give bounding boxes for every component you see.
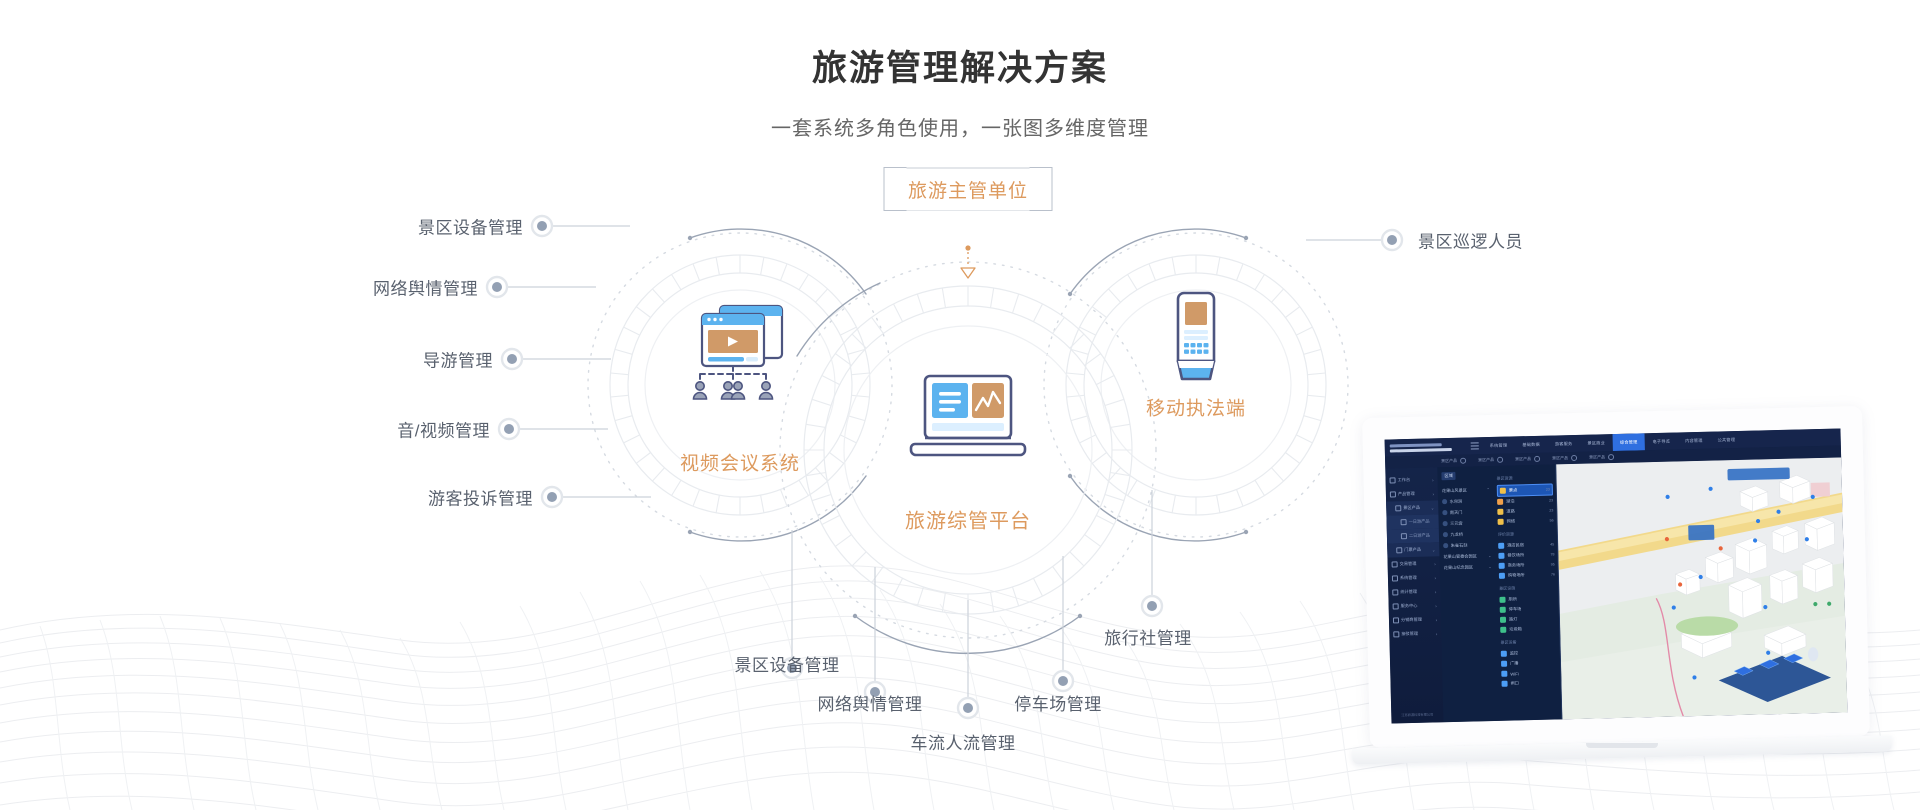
resource-group-title-0: 景区资源 — [1496, 475, 1552, 482]
resource-list-column: 景区资源景点23湖泊23道路23网络56评价资源酒店民宿45餐饮场所78商务场所… — [1493, 464, 1561, 720]
region-tree-label: 三元宫 — [1450, 520, 1463, 526]
resource-item-label: 监控 — [1510, 650, 1519, 656]
resource-type-icon — [1501, 671, 1507, 677]
resource-item-label: 道路 — [1506, 508, 1515, 514]
region-tree-label: 花果山风景区 — [1442, 487, 1467, 494]
video-conference-icon — [676, 300, 804, 410]
node-label-bottom-4: 旅行社管理 — [1104, 624, 1192, 649]
sidebar-item-label: 产品管理 — [1390, 491, 1415, 498]
panel-header-label: 区域 — [1441, 472, 1456, 480]
resource-type-icon — [1498, 553, 1504, 559]
chevron-down-icon[interactable]: ⌄ — [1488, 553, 1491, 558]
laptop-notch — [1586, 743, 1658, 748]
corner-bracket-top-right — [1030, 167, 1053, 190]
resource-item-count: 78 — [1550, 552, 1554, 556]
sidebar-item-label: 统计管理 — [1392, 589, 1417, 596]
laptop-screen: 系统管理基础数据游客服务景区商业综合管理电子导览内容管理公共管理 景区产品景区产… — [1385, 428, 1848, 723]
resource-item-label: 商务场所 — [1508, 562, 1525, 568]
handheld-device-icon — [1160, 291, 1232, 399]
resource-item-1-3[interactable]: 购物场所76 — [1499, 569, 1555, 580]
corner-bracket-top-left — [884, 167, 907, 190]
dashboard-nav-item-6[interactable]: 内容管理 — [1678, 432, 1710, 450]
region-tree-label: 南天门 — [1450, 509, 1463, 515]
sidebar-item-label: 一日游产品 — [1401, 519, 1430, 526]
resource-type-icon — [1500, 607, 1506, 613]
sidebar-item-2[interactable]: 景区产品⌄ — [1386, 500, 1438, 515]
resource-type-icon — [1499, 563, 1505, 569]
sidebar-footer-line1: 江苏旅游科技有限公司 — [1391, 712, 1443, 718]
node-label-left-2: 导游管理 — [423, 347, 493, 372]
resource-item-count: 95 — [1551, 562, 1555, 566]
chevron-right-icon: › — [1435, 575, 1436, 580]
tree-bullet-icon — [1443, 543, 1448, 548]
dashboard-tab-3[interactable]: 景区产品 — [1552, 455, 1577, 462]
region-tree-label: 花果山管委会园区 — [1443, 553, 1477, 560]
sidebar-item-label: 二日游产品 — [1401, 533, 1430, 540]
region-tree-label: 九龙桥 — [1450, 531, 1463, 537]
region-tree-label: 花果山纪念园区 — [1444, 564, 1473, 571]
resource-item-label: 路灯 — [1509, 616, 1518, 622]
dashboard-logo — [1385, 438, 1469, 457]
resource-item-label: 网络 — [1507, 518, 1516, 524]
page-root: 旅游管理解决方案 一套系统多角色使用，一张图多维度管理 — [0, 0, 1920, 810]
resource-type-icon — [1497, 499, 1503, 505]
chevron-right-icon: › — [1432, 491, 1433, 496]
resource-item-label: WiFi — [1510, 671, 1518, 676]
sidebar-footer: 江苏旅游科技有限公司 — [1391, 712, 1443, 718]
corner-bracket-bottom-right — [1030, 188, 1053, 211]
sidebar-item-3[interactable]: 一日游产品 — [1386, 514, 1438, 529]
resource-item-label: 闸口 — [1510, 680, 1519, 686]
sidebar-item-8[interactable]: 统计管理› — [1388, 584, 1440, 599]
laptop-body: 系统管理基础数据游客服务景区商业综合管理电子导览内容管理公共管理 景区产品景区产… — [1362, 406, 1870, 748]
dashboard-nav-item-5[interactable]: 电子导览 — [1645, 432, 1677, 450]
resource-item-label: 广播 — [1510, 660, 1519, 666]
tree-bullet-icon — [1442, 510, 1447, 515]
sidebar-item-label: 系统管理 — [1392, 575, 1417, 582]
dashboard-nav-item-4[interactable]: 综合管理 — [1613, 433, 1645, 451]
chevron-right-icon: › — [1432, 477, 1433, 482]
region-tree-node-7[interactable]: 花果山纪念园区⌄ — [1444, 561, 1492, 573]
authority-box: 旅游主管单位 — [885, 168, 1052, 210]
sidebar-item-4[interactable]: 二日游产品 — [1387, 528, 1439, 543]
chevron-up-icon[interactable]: ⌃ — [1486, 487, 1489, 492]
region-tree-label: 朱雀石刻 — [1451, 542, 1468, 548]
dashboard-tab-1[interactable]: 景区产品 — [1478, 457, 1503, 464]
resource-item-count: 23 — [1546, 488, 1550, 492]
chevron-right-icon: ⌄ — [1432, 547, 1435, 552]
sidebar-item-10[interactable]: 分销商管理› — [1389, 612, 1441, 627]
sidebar-item-label: 服务中心 — [1393, 603, 1418, 610]
sidebar-item-label: 景区产品 — [1395, 505, 1420, 512]
dashboard-nav-item-1[interactable]: 基础数据 — [1515, 436, 1547, 454]
resource-item-label: 垃圾箱 — [1509, 626, 1522, 632]
ring-label-mobile-enforcement: 移动执法端 — [1146, 394, 1246, 421]
node-label-left-4: 游客投诉管理 — [428, 485, 533, 510]
resource-type-icon — [1501, 661, 1507, 667]
resource-item-count: 45 — [1550, 543, 1554, 547]
resource-item-label: 湖泊 — [1506, 498, 1515, 504]
resource-type-icon — [1499, 573, 1505, 579]
resource-type-icon — [1501, 651, 1507, 657]
sidebar-item-6[interactable]: 交易管理› — [1387, 556, 1439, 571]
dashboard-nav-item-2[interactable]: 游客服务 — [1548, 435, 1580, 453]
sidebar-item-label: 接驳管理 — [1393, 631, 1418, 638]
resource-item-label: 酒店民宿 — [1507, 542, 1524, 548]
resource-item-label: 购物场所 — [1508, 572, 1525, 578]
resource-item-count: 23 — [1549, 509, 1553, 513]
node-label-bottom-0: 景区设备管理 — [735, 651, 840, 676]
resource-type-icon — [1498, 543, 1504, 549]
sidebar-item-label: 分销商管理 — [1393, 617, 1422, 624]
resource-item-label: 停车场 — [1509, 606, 1522, 612]
resource-type-icon — [1499, 597, 1505, 603]
node-label-bottom-3: 停车场管理 — [1014, 690, 1102, 715]
tree-bullet-icon — [1442, 499, 1447, 504]
dashboard-sidebar[interactable]: 工作台›产品管理›景区产品⌄一日游产品二日游产品门票产品⌄交易管理›系统管理›统… — [1385, 467, 1443, 723]
resource-item-3-3[interactable]: 闸口 — [1501, 677, 1557, 688]
dashboard-map[interactable] — [1556, 457, 1847, 719]
chevron-right-icon: › — [1436, 631, 1437, 636]
dashboard-resource-panel: 区域 花果山风景区⌃水帘洞南天门三元宫九龙桥朱雀石刻花果山管委会园区⌄花果山纪念… — [1437, 464, 1562, 722]
sidebar-item-11[interactable]: 接驳管理› — [1389, 626, 1441, 641]
ring-label-video-conference: 视频会议系统 — [680, 449, 800, 476]
hamburger-icon[interactable] — [1471, 442, 1483, 450]
sidebar-item-label: 交易管理 — [1392, 561, 1417, 568]
resource-item-count: 23 — [1549, 499, 1553, 503]
dashboard-nav-item-7[interactable]: 公共管理 — [1710, 431, 1742, 449]
dashboard-nav-item-3[interactable]: 景区商业 — [1580, 434, 1612, 452]
sidebar-item-1[interactable]: 产品管理› — [1386, 486, 1438, 501]
resource-group-title-1: 评价资源 — [1498, 531, 1554, 538]
sidebar-item-9[interactable]: 服务中心› — [1388, 598, 1440, 613]
resource-type-icon — [1500, 617, 1506, 623]
resource-item-label: 景点 — [1509, 487, 1518, 493]
resource-group-title-3: 景区设备 — [1501, 638, 1557, 645]
dashboard-nav-item-0[interactable]: 系统管理 — [1483, 436, 1515, 454]
sidebar-item-label: 工作台 — [1390, 477, 1411, 484]
resource-type-icon — [1500, 627, 1506, 633]
sidebar-item-0[interactable]: 工作台› — [1385, 472, 1437, 487]
dashboard-tab-2[interactable]: 景区产品 — [1515, 456, 1540, 463]
dashboard-main: 工作台›产品管理›景区产品⌄一日游产品二日游产品门票产品⌄交易管理›系统管理›统… — [1385, 457, 1847, 723]
panel-header: 区域 — [1441, 471, 1489, 480]
sidebar-item-7[interactable]: 系统管理› — [1388, 570, 1440, 585]
chevron-down-icon[interactable]: ⌄ — [1488, 564, 1491, 569]
node-label-right-0: 景区巡逻人员 — [1418, 228, 1523, 253]
chevron-right-icon: › — [1436, 617, 1437, 622]
sidebar-item-label: 门票产品 — [1396, 547, 1421, 554]
resource-group-title-2: 景区设施 — [1499, 584, 1555, 591]
chevron-right-icon: › — [1435, 589, 1436, 594]
tree-bullet-icon — [1443, 521, 1448, 526]
dashboard-tab-4[interactable]: 景区产品 — [1589, 454, 1614, 461]
resource-type-icon — [1498, 519, 1504, 525]
dashboard-tab-0[interactable]: 景区产品 — [1441, 458, 1466, 465]
tree-bullet-icon — [1443, 532, 1448, 537]
chevron-right-icon: › — [1434, 561, 1435, 566]
resource-item-label: 厕所 — [1508, 596, 1517, 602]
resource-item-count: 76 — [1551, 572, 1555, 576]
corner-bracket-bottom-left — [884, 188, 907, 211]
laptop-mockup: 系统管理基础数据游客服务景区商业综合管理电子导览内容管理公共管理 景区产品景区产… — [1352, 404, 1892, 794]
resource-type-icon — [1500, 488, 1506, 494]
left-connectors — [508, 226, 651, 497]
resource-item-label: 餐饮场所 — [1507, 552, 1524, 558]
node-label-left-3: 音/视频管理 — [397, 417, 490, 442]
resource-item-0-3[interactable]: 网络56 — [1497, 516, 1553, 527]
chevron-right-icon: › — [1435, 603, 1436, 608]
region-tree-label: 水帘洞 — [1450, 498, 1463, 504]
resource-item-2-3[interactable]: 垃圾箱 — [1500, 623, 1556, 634]
node-label-left-1: 网络舆情管理 — [373, 275, 478, 300]
sidebar-item-5[interactable]: 门票产品⌄ — [1387, 542, 1439, 557]
resource-type-icon — [1497, 509, 1503, 515]
ring-label-tourism-platform: 旅游综管平台 — [905, 505, 1031, 534]
chevron-right-icon: ⌄ — [1431, 505, 1434, 510]
node-label-bottom-1: 网络舆情管理 — [818, 690, 923, 715]
authority-box-label: 旅游主管单位 — [908, 176, 1028, 203]
resource-type-icon — [1502, 681, 1508, 687]
node-label-left-0: 景区设备管理 — [418, 214, 523, 239]
region-tree-column: 区域 花果山风景区⌃水帘洞南天门三元宫九龙桥朱雀石刻花果山管委会园区⌄花果山纪念… — [1437, 466, 1499, 722]
node-label-bottom-2: 车流人流管理 — [911, 729, 1016, 754]
laptop-dashboard-icon — [903, 370, 1033, 476]
resource-item-count: 56 — [1550, 519, 1554, 523]
